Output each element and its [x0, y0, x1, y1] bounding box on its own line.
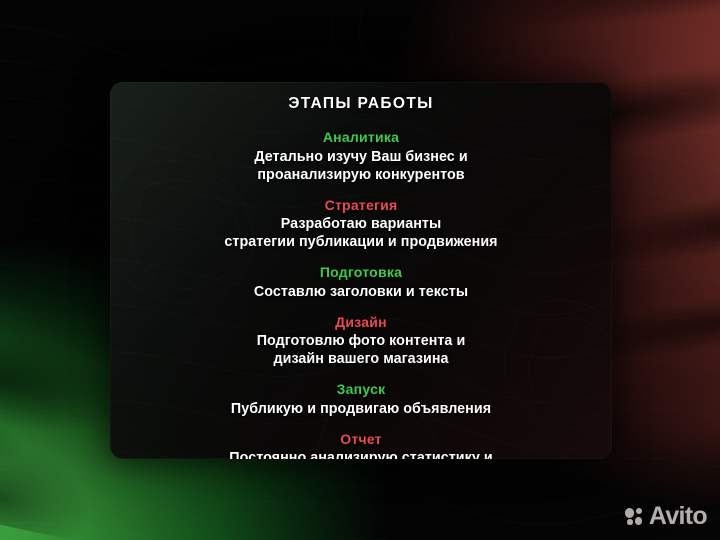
- list-item: Стратегия Разработаю варианты стратегии …: [126, 197, 596, 252]
- list-item: Отчет Постоянно анализирую статистику и …: [126, 431, 596, 460]
- list-item: Дизайн Подготовлю фото контента и дизайн…: [126, 314, 596, 369]
- step-title-preparation: Подготовка: [126, 264, 596, 282]
- list-item: Запуск Публикую и продвигаю объявления: [126, 381, 596, 418]
- step-title-launch: Запуск: [126, 381, 596, 399]
- step-description-strategy: Разработаю варианты стратегии публикации…: [126, 215, 596, 251]
- list-item: Подготовка Составлю заголовки и тексты: [126, 264, 596, 301]
- stages-card: ЭТАПЫ РАБОТЫ Аналитика Детально изучу Ва…: [110, 82, 612, 459]
- poster-canvas: ЭТАПЫ РАБОТЫ Аналитика Детально изучу Ва…: [0, 0, 720, 540]
- step-title-design: Дизайн: [126, 314, 596, 332]
- avito-watermark: Avito: [625, 504, 707, 529]
- step-title-analytics: Аналитика: [126, 129, 596, 147]
- step-description-report: Постоянно анализирую статистику и предос…: [126, 449, 596, 459]
- avito-dots-icon: [625, 507, 644, 526]
- step-description-analytics: Детально изучу Ваш бизнес и проанализиру…: [126, 148, 596, 184]
- page-title: ЭТАПЫ РАБОТЫ: [288, 95, 433, 113]
- step-description-preparation: Составлю заголовки и тексты: [126, 283, 596, 301]
- list-item: Аналитика Детально изучу Ваш бизнес и пр…: [126, 129, 596, 184]
- avito-brand-label: Avito: [649, 504, 707, 529]
- step-description-design: Подготовлю фото контента и дизайн вашего…: [126, 332, 596, 368]
- step-title-strategy: Стратегия: [126, 197, 596, 215]
- step-title-report: Отчет: [126, 431, 596, 449]
- step-description-launch: Публикую и продвигаю объявления: [126, 400, 596, 418]
- steps-list: Аналитика Детально изучу Ваш бизнес и пр…: [126, 129, 596, 459]
